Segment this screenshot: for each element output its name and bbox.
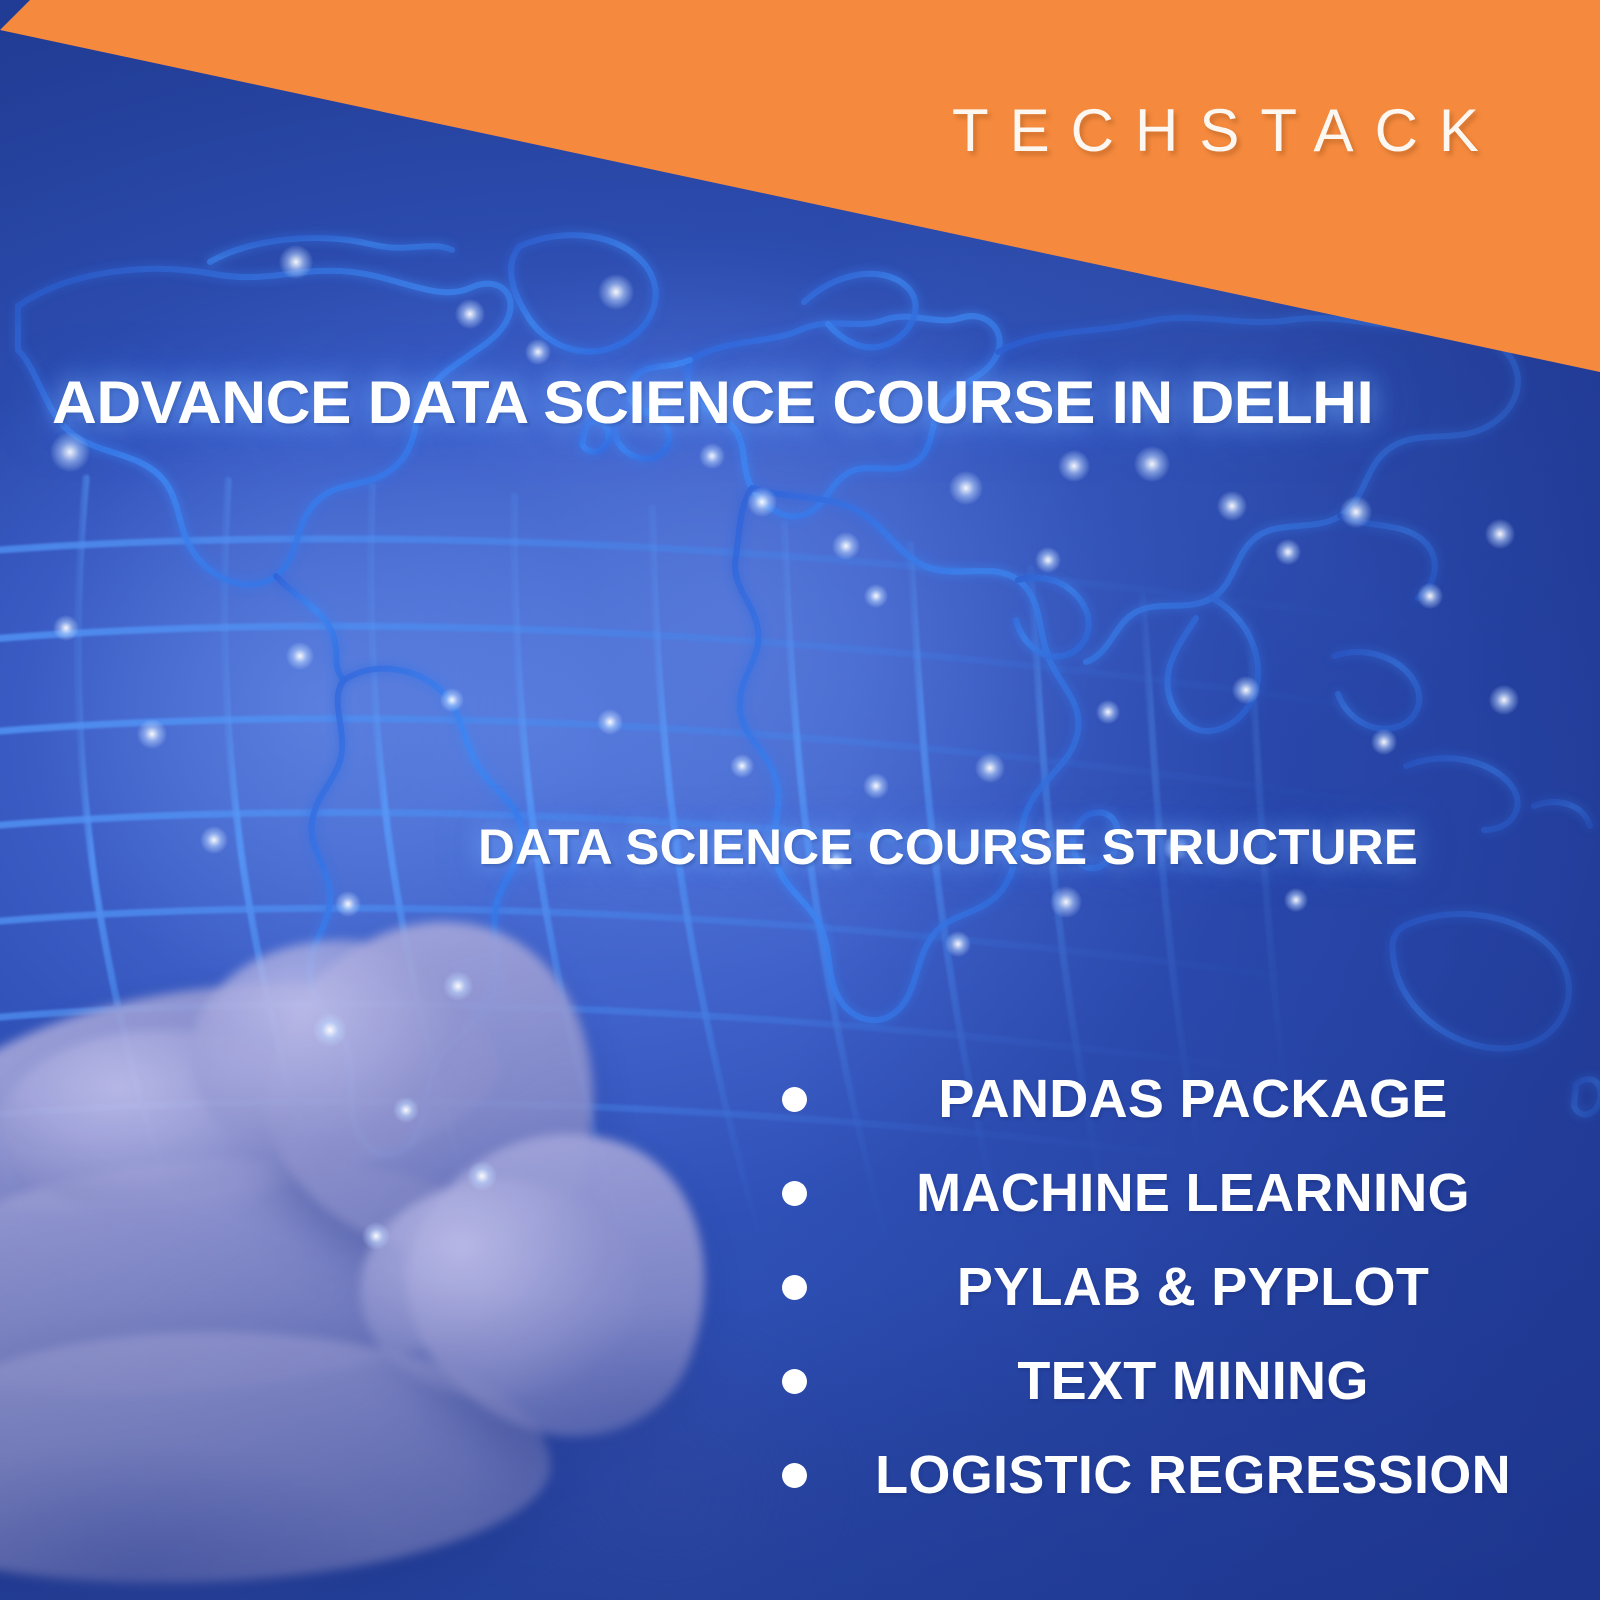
list-item: MACHINE LEARNING [770,1146,1570,1240]
list-item: LOGISTIC REGRESSION [770,1428,1570,1522]
list-item-label: PANDAS PACKAGE [770,1068,1570,1130]
bullet-icon [782,1275,807,1300]
list-item-label: TEXT MINING [770,1350,1570,1412]
page-title: ADVANCE DATA SCIENCE COURSE IN DELHI [52,368,1373,437]
list-item: PANDAS PACKAGE [770,1052,1570,1146]
poster-content: ADVANCE DATA SCIENCE COURSE IN DELHI DAT… [0,0,1600,1600]
bullet-icon [782,1087,807,1112]
list-item: TEXT MINING [770,1334,1570,1428]
bullet-icon [782,1463,807,1488]
list-item: PYLAB & PYPLOT [770,1240,1570,1334]
bullet-icon [782,1369,807,1394]
section-title: DATA SCIENCE COURSE STRUCTURE [478,818,1418,876]
list-item-label: MACHINE LEARNING [770,1162,1570,1224]
list-item-label: LOGISTIC REGRESSION [770,1444,1570,1506]
course-structure-list: PANDAS PACKAGEMACHINE LEARNINGPYLAB & PY… [770,1052,1570,1522]
poster-canvas: TECHSTACK ADVANCE DATA SCIENCE COURSE IN… [0,0,1600,1600]
bullet-icon [782,1181,807,1206]
list-item-label: PYLAB & PYPLOT [770,1256,1570,1318]
